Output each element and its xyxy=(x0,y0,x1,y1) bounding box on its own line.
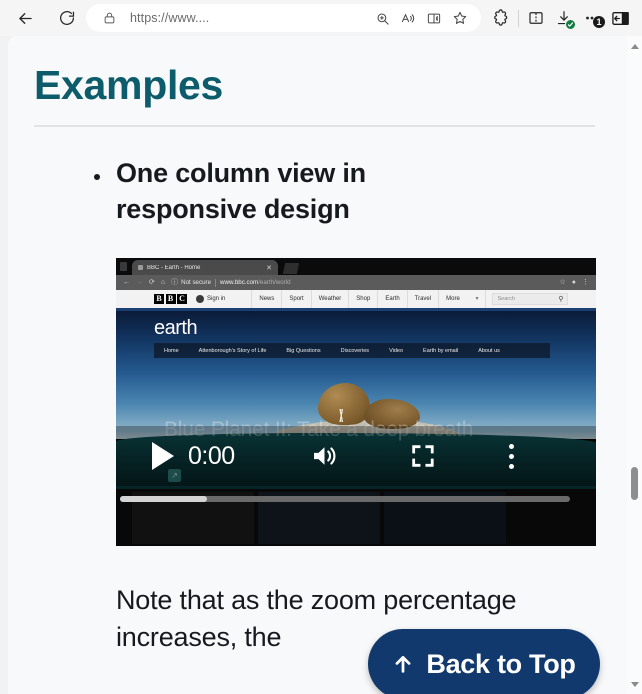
video-player[interactable]: BBC - Earth - Home ✕ ← → ⟳ ⌂ ⓘ Not secur… xyxy=(116,258,596,546)
bbc-search-box: Search ⚲ xyxy=(492,293,568,305)
earth-nav-item: Attenborough's Story of Life xyxy=(189,348,277,354)
earth-nav-item: About us xyxy=(468,348,510,354)
arrow-up-icon xyxy=(392,652,414,676)
play-icon[interactable] xyxy=(152,442,174,470)
bbc-logo-letter: B xyxy=(154,294,164,304)
earth-nav-item: Home xyxy=(154,348,189,354)
search-icon: ⚲ xyxy=(558,295,563,303)
embedded-url-path: /earth/world xyxy=(258,279,290,286)
volume-icon[interactable] xyxy=(307,441,341,471)
bbc-nav-item: Travel xyxy=(407,290,438,308)
bbc-sign-in-label: Sign in xyxy=(207,296,225,302)
embedded-tab-title: BBC - Earth - Home xyxy=(147,265,266,271)
bbc-nav-item-more: More ▾ xyxy=(438,290,486,308)
not-secure-icon: ⓘ xyxy=(171,279,178,286)
earth-nav-item: Earth by email xyxy=(413,348,468,354)
horizontal-scrollbar[interactable] xyxy=(120,496,570,502)
title-divider xyxy=(34,125,595,127)
embedded-forward-icon: → xyxy=(136,279,143,286)
earth-nav-item: Big Questions xyxy=(276,348,330,354)
embedded-menu-icon: ⋮ xyxy=(582,279,589,286)
back-to-top-button[interactable]: Back to Top xyxy=(368,629,600,694)
bbc-nav-item: Earth xyxy=(377,290,406,308)
lock-icon[interactable] xyxy=(96,5,122,31)
embedded-profile-icon: ● xyxy=(572,279,576,286)
chevron-down-icon: ▾ xyxy=(475,296,478,302)
bbc-global-bar: B B C Sign in News Sport Weather Shop Ea… xyxy=(116,290,596,308)
embedded-system-menu-icon xyxy=(120,262,127,271)
page-title: Examples xyxy=(34,36,602,107)
address-bar[interactable]: https://www.... xyxy=(86,4,481,32)
bullet-list: One column view in responsive design xyxy=(34,155,602,227)
bbc-nav-more-label: More xyxy=(446,296,460,302)
zoom-icon[interactable] xyxy=(369,5,395,31)
page-viewport: Examples One column view in responsive d… xyxy=(8,36,642,694)
vertical-scrollbar[interactable] xyxy=(627,36,642,694)
bbc-nav-item: Sport xyxy=(281,290,310,308)
bbc-nav-item: News xyxy=(251,290,281,308)
scroll-up-arrow[interactable] xyxy=(627,38,642,54)
favicon-icon xyxy=(138,265,143,270)
extensions-icon[interactable] xyxy=(487,4,515,32)
bbc-nav-item: Shop xyxy=(348,290,377,308)
bbc-logo: B B C xyxy=(154,294,187,304)
bbc-top-nav: News Sport Weather Shop Earth Travel Mor… xyxy=(251,290,486,308)
settings-update-badge: 1 xyxy=(593,16,605,28)
embedded-security-text: Not secure xyxy=(181,279,211,286)
embedded-toolbar-right: ☆ ● ⋮ xyxy=(556,279,592,286)
back-button[interactable] xyxy=(10,3,40,33)
embedded-star-icon: ☆ xyxy=(559,279,565,286)
bbc-nav-item: Weather xyxy=(311,290,349,308)
embedded-browser-tab: BBC - Earth - Home ✕ xyxy=(132,260,278,275)
refresh-button[interactable] xyxy=(52,3,82,33)
new-tab-icon xyxy=(283,263,299,274)
embedded-reload-icon: ⟳ xyxy=(149,279,155,286)
close-icon: ✕ xyxy=(266,264,272,272)
video-control-bar[interactable]: 0:00 xyxy=(116,426,596,486)
embedded-back-icon: ← xyxy=(123,279,130,286)
fullscreen-icon[interactable] xyxy=(409,442,437,470)
download-complete-badge xyxy=(565,19,576,30)
embedded-tab-strip: BBC - Earth - Home ✕ xyxy=(116,258,596,275)
bbc-logo-letter: C xyxy=(177,294,187,304)
immersive-reader-icon[interactable] xyxy=(421,5,447,31)
more-options-icon[interactable] xyxy=(509,444,514,469)
embedded-url-host: www.bbc.com xyxy=(220,279,258,286)
embedded-url-divider xyxy=(215,279,216,287)
bbc-logo-letter: B xyxy=(166,294,176,304)
embedded-home-icon: ⌂ xyxy=(161,279,165,286)
earth-wordmark: earth xyxy=(154,317,197,340)
downloads-icon[interactable] xyxy=(550,4,578,32)
list-item: One column view in responsive design xyxy=(34,155,602,227)
scroll-down-arrow[interactable] xyxy=(627,676,642,692)
list-item-label: One column view in responsive design xyxy=(116,155,446,227)
walrus xyxy=(364,399,420,429)
url-text[interactable]: https://www.... xyxy=(122,11,369,25)
earth-nav-item: Video xyxy=(379,348,413,354)
video-time-label: 0:00 xyxy=(188,442,235,471)
avatar-icon xyxy=(196,295,204,303)
vertical-scrollbar-thumb[interactable] xyxy=(631,467,638,500)
embedded-address-bar: ← → ⟳ ⌂ ⓘ Not secure www.bbc.com /earth/… xyxy=(116,275,596,290)
horizontal-scrollbar-thumb[interactable] xyxy=(120,496,207,502)
bbc-search-placeholder: Search xyxy=(497,296,514,302)
browser-essentials-icon[interactable] xyxy=(606,4,634,32)
split-screen-icon[interactable] xyxy=(522,4,550,32)
walrus xyxy=(318,383,370,425)
browser-toolbar: https://www.... xyxy=(0,0,642,36)
earth-section-nav: Home Attenborough's Story of Life Big Qu… xyxy=(154,343,550,358)
bbc-sign-in: Sign in xyxy=(196,295,225,303)
favorite-star-icon[interactable] xyxy=(447,5,473,31)
earth-nav-item: Discoveries xyxy=(331,348,379,354)
read-aloud-icon[interactable] xyxy=(395,5,421,31)
back-to-top-label: Back to Top xyxy=(426,649,575,680)
settings-and-more-icon[interactable]: 1 xyxy=(578,4,606,32)
toolbar-divider xyxy=(518,10,519,27)
page-content: Examples One column view in responsive d… xyxy=(8,36,628,694)
